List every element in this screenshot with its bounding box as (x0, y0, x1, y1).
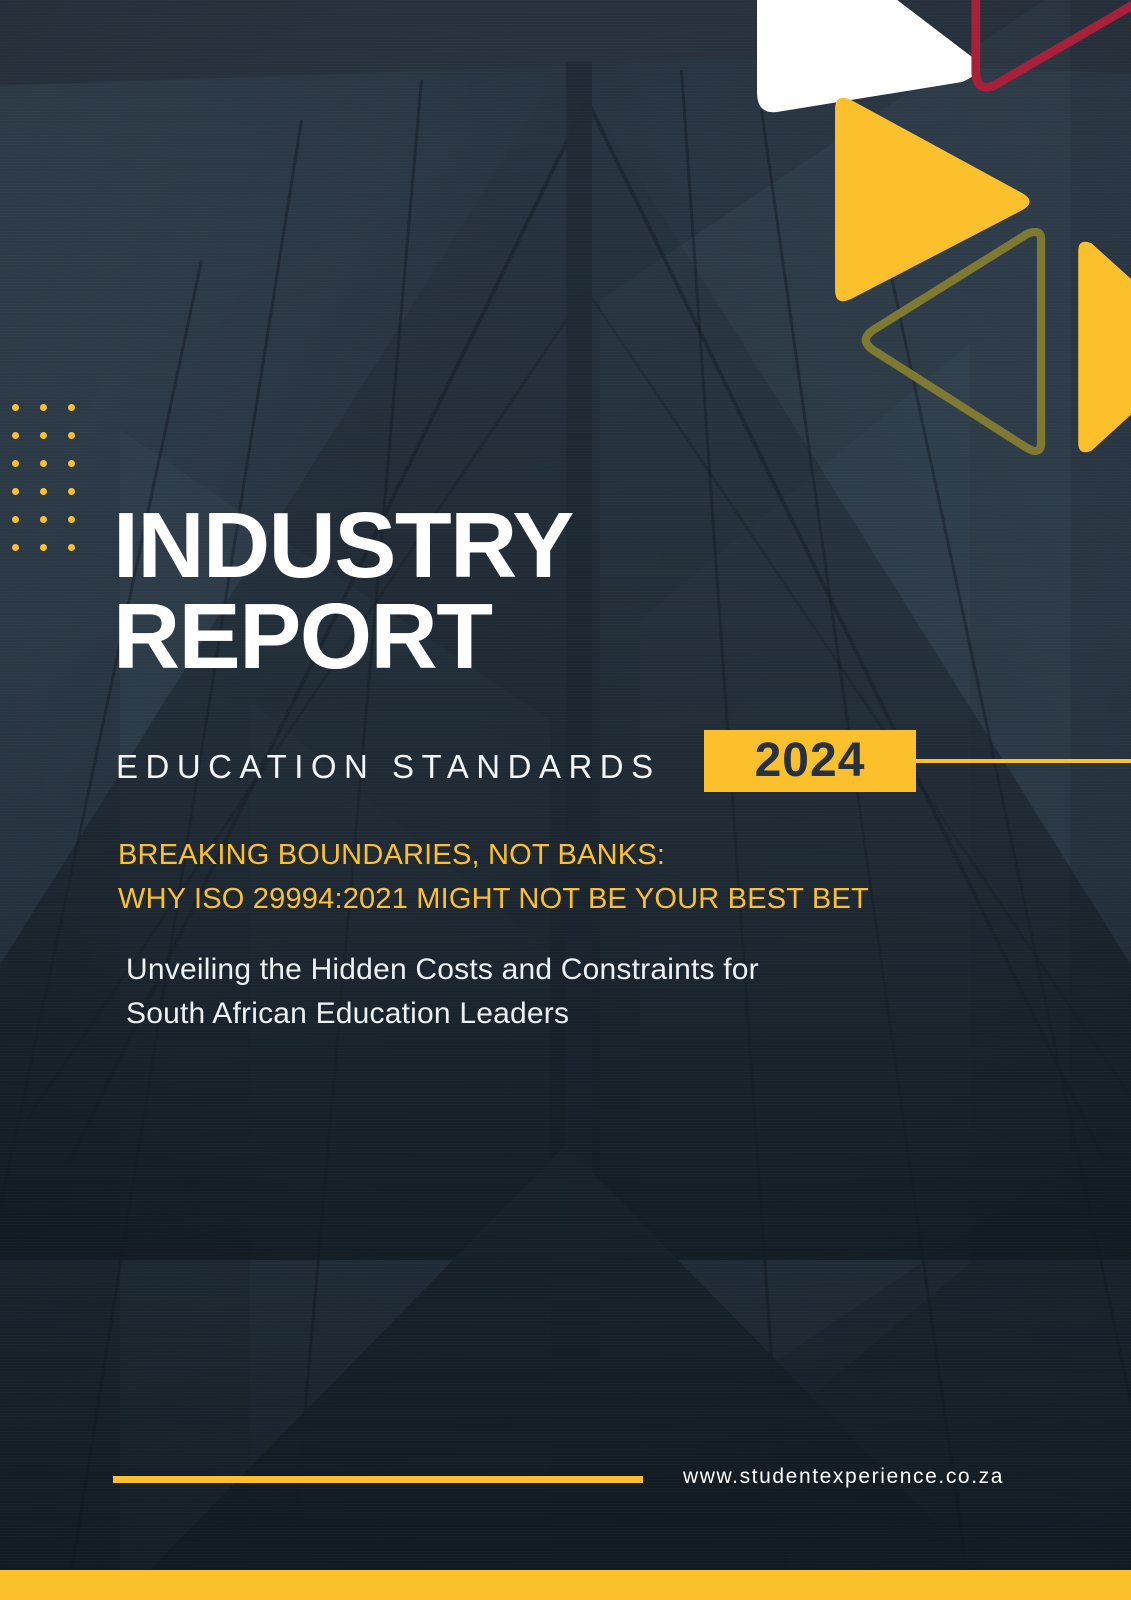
report-subhead-line-1: Unveiling the Hidden Costs and Constrain… (126, 948, 759, 992)
page-title-line-2: REPORT (113, 591, 733, 682)
page-title-line-1: INDUSTRY (113, 500, 733, 591)
footer-rule (113, 1476, 643, 1483)
report-subhead: Unveiling the Hidden Costs and Constrain… (126, 948, 759, 1037)
year-rule (916, 759, 1131, 763)
report-headline-line-1: BREAKING BOUNDARIES, NOT BANKS: (118, 833, 869, 877)
subject-kicker: EDUCATION STANDARDS (116, 748, 661, 786)
footer-website-url[interactable]: www.studentexperience.co.za (683, 1465, 1004, 1489)
bottom-accent-bar (0, 1570, 1131, 1600)
cover-content: INDUSTRY REPORT EDUCATION STANDARDS 2024… (0, 0, 1131, 1600)
report-cover-page: INDUSTRY REPORT EDUCATION STANDARDS 2024… (0, 0, 1131, 1600)
year-badge: 2024 (704, 730, 916, 792)
report-headline: BREAKING BOUNDARIES, NOT BANKS: WHY ISO … (118, 833, 869, 921)
report-headline-line-2: WHY ISO 29994:2021 MIGHT NOT BE YOUR BES… (118, 877, 869, 921)
report-subhead-line-2: South African Education Leaders (126, 992, 759, 1036)
page-title: INDUSTRY REPORT (113, 500, 733, 682)
year-badge-label: 2024 (755, 737, 866, 785)
